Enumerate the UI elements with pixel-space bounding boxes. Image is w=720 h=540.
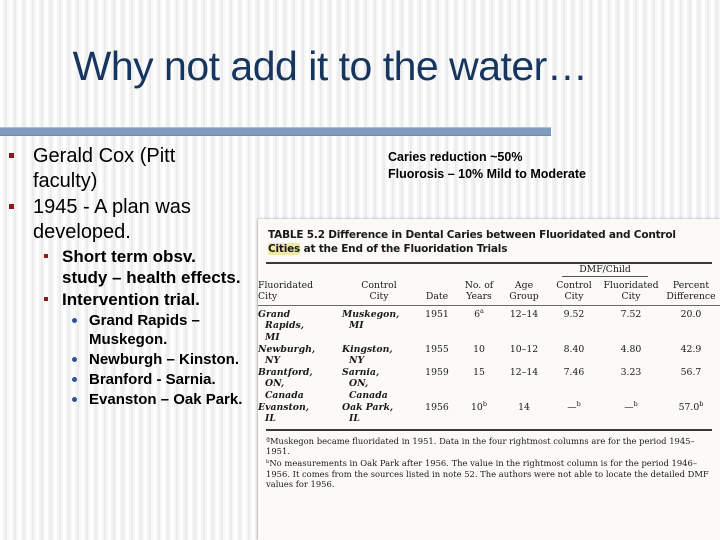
bullet-dot-icon <box>72 357 77 362</box>
cell-percent-difference: 42.9 <box>662 344 720 367</box>
list-item: Short term obsv. study – health effects. <box>0 246 255 288</box>
col-header-years: No. ofYears <box>458 280 500 303</box>
table-footnotes: ªMuskegon became fluoridated in 1951. Da… <box>266 436 712 490</box>
cell-control-city: Oak Park, IL <box>342 402 416 425</box>
col-header-percent-difference: PercentDifference <box>662 280 720 303</box>
cell-dmf-control: —b <box>548 402 600 425</box>
table-caption: TABLE 5.2 Difference in Dental Caries be… <box>268 228 710 256</box>
caption-line-1: Caries reduction ~50% <box>388 149 586 166</box>
cell-control-city: Sarnia, ON, Canada <box>342 367 416 402</box>
cell-years: 6a <box>458 309 500 344</box>
table-header-row: FluoridatedCity ControlCity Date No. ofY… <box>258 280 720 303</box>
list-item-label: Branford - Sarnia. <box>89 370 216 389</box>
cell-age-group: 12–14 <box>500 309 548 344</box>
table-row: Brantford, ON, Canada Sarnia, ON, Canada… <box>258 367 720 402</box>
bullet-dot-icon <box>72 377 77 382</box>
footnote-a: ªMuskegon became fluoridated in 1951. Da… <box>266 436 712 457</box>
table-rule-bottom <box>266 429 712 431</box>
table-rule-header <box>258 305 720 306</box>
cell-age-group: 12–14 <box>500 367 548 402</box>
cell-dmf-control: 7.46 <box>548 367 600 402</box>
table-row: Grand Rapids, MI Muskegon, MI 1951 6a 12… <box>258 309 720 344</box>
cell-fluoridated-city: Brantford, ON, Canada <box>258 367 342 402</box>
bullet-dot-icon <box>72 397 77 402</box>
cell-date: 1959 <box>416 367 458 402</box>
cell-fluoridated-city: Evanston, IL <box>258 402 342 425</box>
list-item-label: Short term obsv. study – health effects. <box>62 246 242 288</box>
caption-block: Caries reduction ~50% Fluorosis – 10% Mi… <box>388 149 586 183</box>
bullet-square-icon <box>9 153 14 158</box>
cell-date: 1956 <box>416 402 458 425</box>
footnote-b: ᵇNo measurements in Oak Park after 1956.… <box>266 458 712 490</box>
list-item: Evanston – Oak Park. <box>0 390 255 409</box>
cell-years: 15 <box>458 367 500 402</box>
title-divider <box>0 127 551 136</box>
list-item-label: 1945 - A plan was developed. <box>33 195 243 245</box>
cell-dmf-fluoridated: 4.80 <box>600 344 662 367</box>
cell-years: 10b <box>458 402 500 425</box>
list-item: Newburgh – Kinston. <box>0 350 255 369</box>
cell-age-group: 14 <box>500 402 548 425</box>
cell-percent-difference: 56.7 <box>662 367 720 402</box>
list-item-label: Newburgh – Kinston. <box>89 350 239 369</box>
table-row: Evanston, IL Oak Park, IL 1956 10b 14 —b… <box>258 402 720 425</box>
bullet-square-icon <box>44 254 48 258</box>
cell-fluoridated-city: Grand Rapids, MI <box>258 309 342 344</box>
group-header-rule <box>562 276 648 277</box>
cell-fluoridated-city: Newburgh, NY <box>258 344 342 367</box>
cell-date: 1951 <box>416 309 458 344</box>
table-figure: TABLE 5.2 Difference in Dental Caries be… <box>258 219 720 540</box>
list-item-label: Intervention trial. <box>62 289 200 310</box>
list-item: Gerald Cox (Pitt faculty) <box>0 144 255 194</box>
list-item-label: Evanston – Oak Park. <box>89 390 242 409</box>
list-item: Grand Rapids – Muskegon. <box>0 311 255 349</box>
cell-dmf-fluoridated: —b <box>600 402 662 425</box>
col-header-control-city: ControlCity <box>342 280 416 303</box>
bullet-square-icon <box>9 204 14 209</box>
col-header-dmf-control-city: ControlCity <box>548 280 600 303</box>
group-header-dmf: DMF/Child <box>548 264 662 276</box>
caption-line-2: Fluorosis – 10% Mild to Moderate <box>388 166 586 183</box>
list-item: Intervention trial. <box>0 289 255 310</box>
page-title: Why not add it to the water… <box>0 42 660 90</box>
bullet-square-icon <box>44 297 48 301</box>
table-caption-suffix: at the End of the Fluoridation Trials <box>300 243 507 255</box>
list-item: 1945 - A plan was developed. <box>0 195 255 245</box>
col-header-date: Date <box>416 280 458 303</box>
list-item-label: Gerald Cox (Pitt faculty) <box>33 144 243 194</box>
slide: Why not add it to the water… Gerald Cox … <box>0 0 720 540</box>
col-header-fluoridated-city: FluoridatedCity <box>258 280 342 303</box>
cell-percent-difference: 57.0b <box>662 402 720 425</box>
table-caption-highlight: Cities <box>268 243 300 255</box>
cell-dmf-control: 9.52 <box>548 309 600 344</box>
cell-percent-difference: 20.0 <box>662 309 720 344</box>
list-item: Branford - Sarnia. <box>0 370 255 389</box>
cell-age-group: 10–12 <box>500 344 548 367</box>
bullet-dot-icon <box>72 318 77 323</box>
cell-dmf-fluoridated: 7.52 <box>600 309 662 344</box>
table-group-header-row: DMF/Child <box>258 264 720 276</box>
cell-dmf-fluoridated: 3.23 <box>600 367 662 402</box>
list-item-label: Grand Rapids – Muskegon. <box>89 311 249 349</box>
col-header-age-group: AgeGroup <box>500 280 548 303</box>
col-header-dmf-fluoridated-city: FluoridatedCity <box>600 280 662 303</box>
cell-years: 10 <box>458 344 500 367</box>
bullet-list: Gerald Cox (Pitt faculty) 1945 - A plan … <box>0 144 255 410</box>
cell-dmf-control: 8.40 <box>548 344 600 367</box>
cell-control-city: Muskegon, MI <box>342 309 416 344</box>
table-caption-prefix: TABLE 5.2 Difference in Dental Caries be… <box>268 229 676 241</box>
cell-control-city: Kingston, NY <box>342 344 416 367</box>
table-row: Newburgh, NY Kingston, NY 1955 10 10–12 … <box>258 344 720 367</box>
cell-date: 1955 <box>416 344 458 367</box>
dmf-table: DMF/Child FluoridatedCity ControlCity Da… <box>258 264 720 425</box>
